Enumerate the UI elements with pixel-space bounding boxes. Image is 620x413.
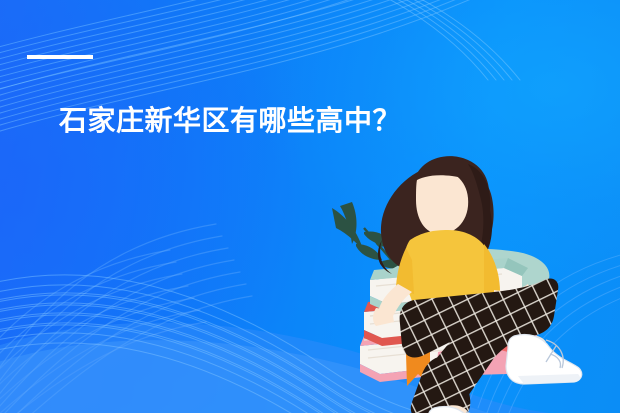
- illustration-student-on-books: [318, 140, 620, 413]
- shoe-upper: [506, 335, 582, 385]
- page-title: 石家庄新华区有哪些高中？: [59, 104, 401, 138]
- background-glow-left: [0, 0, 300, 413]
- accent-rule: [27, 55, 93, 59]
- promo-banner: 石家庄新华区有哪些高中？: [0, 0, 620, 413]
